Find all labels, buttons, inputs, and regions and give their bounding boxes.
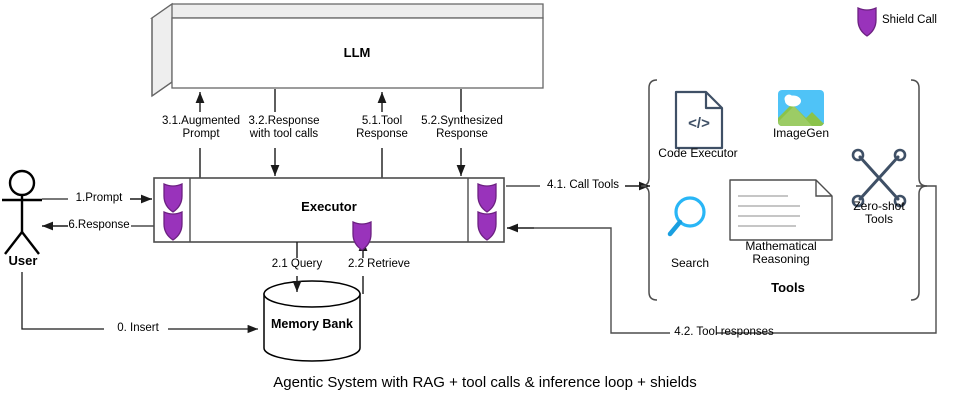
edge-label-5-2: 5.2.Synthesized Response (404, 115, 520, 141)
edge-label-1-prompt: 1.Prompt (62, 192, 136, 205)
memory-bank-label: Memory Bank (262, 318, 362, 331)
tool-label-search[interactable]: Search (660, 257, 720, 270)
diagram-caption: Agentic System with RAG + tool calls & i… (0, 374, 970, 391)
edge-label-2-2-retrieve: 2.2 Retrieve (333, 258, 425, 271)
edge-label-2-1-query: 2.1 Query (257, 258, 337, 271)
edge-label-4-2-tool-responses: 4.2. Tool responses (666, 326, 782, 339)
edge-label-6-response: 6.Response (60, 219, 138, 232)
edge-label-3-2: 3.2.Response with tool calls (226, 115, 342, 141)
code-document-icon: </> (676, 92, 722, 148)
tools-group-label: Tools (738, 281, 838, 294)
formula-document-icon (730, 180, 832, 240)
tool-label-imagegen[interactable]: ImageGen (761, 127, 841, 140)
svg-text:</>: </> (688, 115, 710, 132)
executor-label: Executor (279, 200, 379, 213)
edge-0-insert (22, 272, 258, 329)
image-icon (778, 90, 824, 126)
shield-icon-executor-bottom (353, 222, 371, 250)
user-node[interactable] (2, 171, 42, 254)
shield-icon-legend (858, 8, 876, 36)
crossed-wrenches-icon (853, 150, 905, 206)
tool-label-zero-shot-tools[interactable]: Zero-shot Tools (840, 200, 918, 226)
magnifier-icon (670, 198, 704, 234)
tool-label-code-executor[interactable]: Code Executor (648, 147, 748, 160)
user-label: User (0, 254, 46, 267)
edge-label-4-1-call-tools: 4.1. Call Tools (537, 179, 629, 192)
legend-label: Shield Call (882, 14, 968, 27)
tool-label-mathematical-reasoning[interactable]: Mathematical Reasoning (729, 240, 833, 266)
llm-label: LLM (307, 46, 407, 59)
edge-label-0-insert: 0. Insert (104, 322, 172, 335)
diagram-canvas: </> (0, 0, 970, 411)
